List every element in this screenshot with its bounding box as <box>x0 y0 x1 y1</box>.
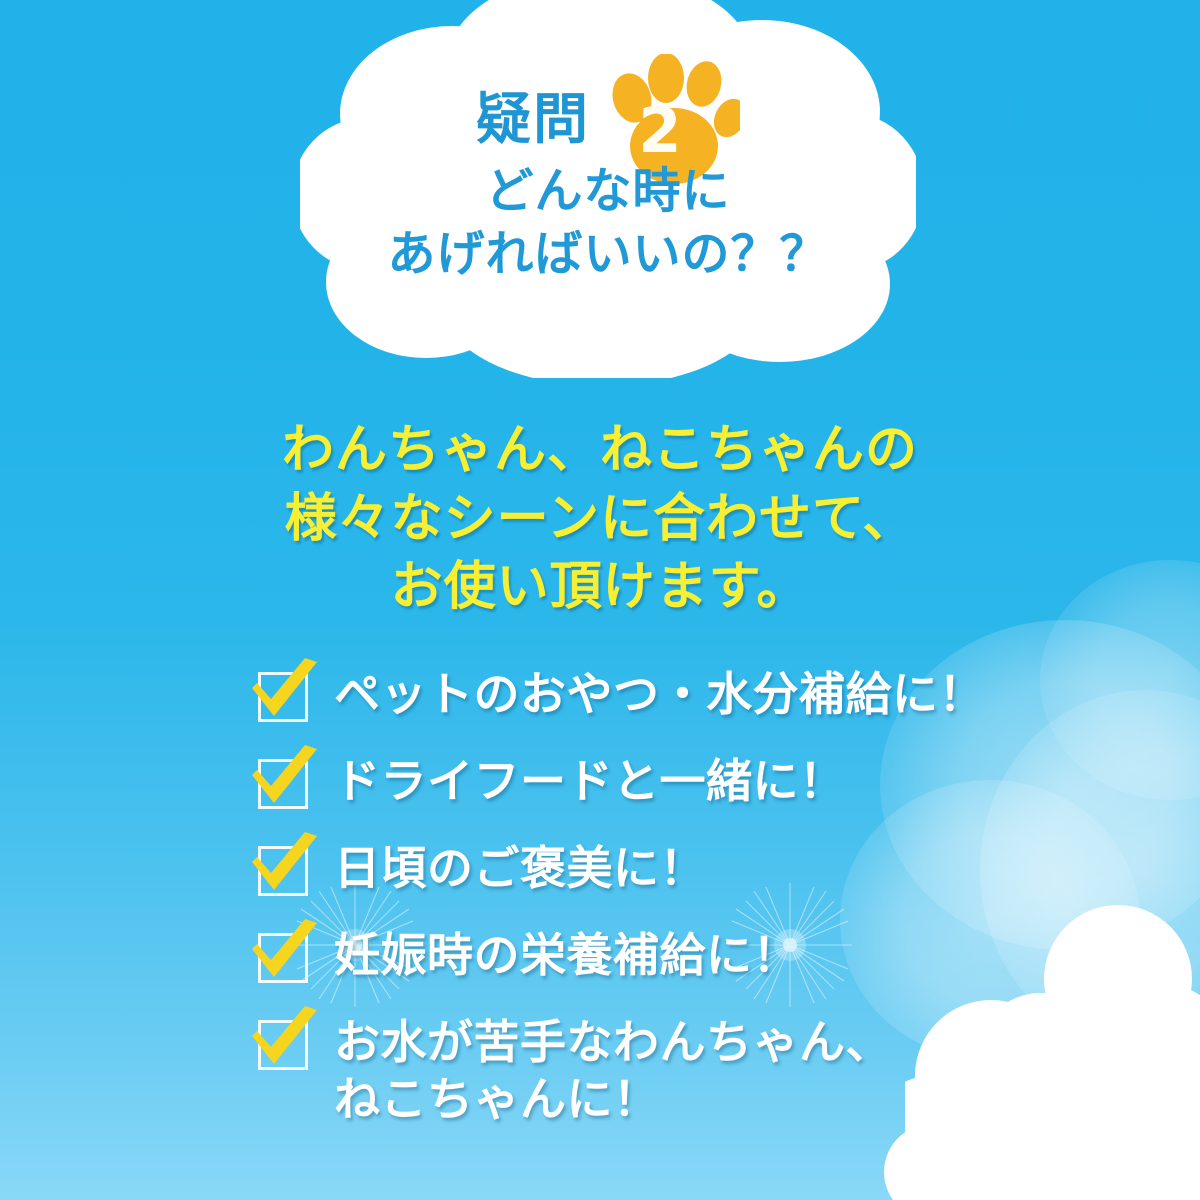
lead-copy-line-2: 様々なシーンに合わせて、 <box>0 485 1200 554</box>
foreground-cloud-back <box>1000 905 1200 1200</box>
checkmark-icon <box>247 743 321 811</box>
checklist-item-line: ドライフードと一緒に！ <box>334 753 846 810</box>
question-label: 疑問 <box>476 92 590 147</box>
checklist-item: ドライフードと一緒に！ <box>258 753 1018 815</box>
checklist-item-line: ペットのおやつ・水分補給に！ <box>334 666 985 723</box>
checklist-item-line: 妊娠時の栄養補給に！ <box>334 927 799 984</box>
checklist-item-line: お水が苦手なわんちゃん、 <box>334 1014 892 1071</box>
checkbox-checked-icon <box>258 1020 308 1070</box>
lead-copy-line-3: お使い頂けます。 <box>0 553 1200 622</box>
checkbox-checked-icon <box>258 759 308 809</box>
checkbox-checked-icon <box>258 846 308 896</box>
checklist-item: 妊娠時の栄養補給に！ <box>258 927 1018 989</box>
checkmark-icon <box>247 917 321 985</box>
checklist-item: ペットのおやつ・水分補給に！ <box>258 666 1018 728</box>
paw-number-label: 2 <box>604 100 716 162</box>
usage-checklist: ペットのおやつ・水分補給に！ ドライフードと一緒に！ 日頃の <box>258 666 1018 1153</box>
checklist-item-label: ドライフードと一緒に！ <box>334 753 846 810</box>
checklist-item-line: ねこちゃんに！ <box>334 1071 892 1128</box>
lead-copy-line-1: わんちゃん、ねこちゃんの <box>0 416 1200 485</box>
question-line-2: あげればいいの？？ <box>300 223 916 286</box>
checkmark-icon <box>247 1004 321 1072</box>
checkmark-icon <box>247 656 321 724</box>
header-content: 疑問 2 どんな時に あげればいいの？？ <box>300 0 916 380</box>
question-line-1: どんな時に <box>300 160 916 223</box>
checkbox-checked-icon <box>258 933 308 983</box>
poster-canvas: 疑問 2 どんな時に あげればいいの？？ わんちゃん、ねこち <box>0 0 1200 1200</box>
green-foliage-decoration <box>1120 1075 1200 1200</box>
checklist-item-label: ペットのおやつ・水分補給に！ <box>334 666 985 723</box>
checklist-item-label: 妊娠時の栄養補給に！ <box>334 927 799 984</box>
checklist-item-label: 日頃のご褒美に！ <box>334 840 706 897</box>
checklist-item: お水が苦手なわんちゃん、 ねこちゃんに！ <box>258 1014 1018 1128</box>
checkmark-icon <box>247 830 321 898</box>
question-text: どんな時に あげればいいの？？ <box>300 160 916 287</box>
checklist-item-label: お水が苦手なわんちゃん、 ねこちゃんに！ <box>334 1014 892 1128</box>
checklist-item-line: 日頃のご褒美に！ <box>334 840 706 897</box>
lead-copy: わんちゃん、ねこちゃんの 様々なシーンに合わせて、 お使い頂けます。 <box>0 416 1200 622</box>
checklist-item: 日頃のご褒美に！ <box>258 840 1018 902</box>
checkbox-checked-icon <box>258 672 308 722</box>
